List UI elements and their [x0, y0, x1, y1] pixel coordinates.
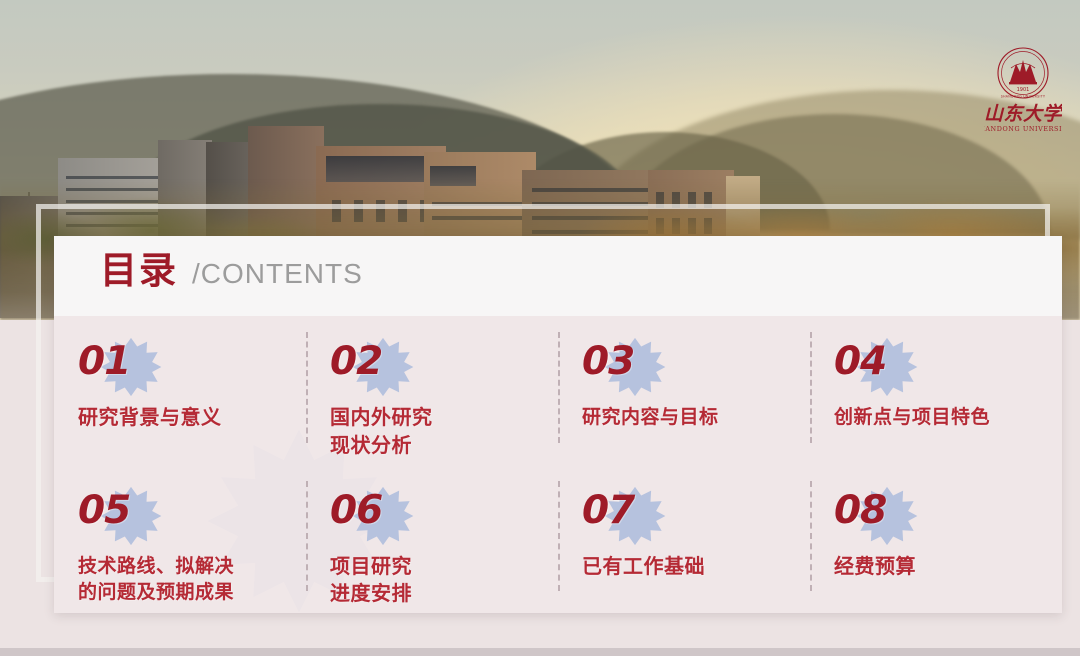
item-number: 01: [78, 342, 130, 381]
contents-body: 01 研究背景与意义 02 国内外研究 现状分析: [54, 316, 1062, 613]
item-label: 经费预算: [834, 553, 1036, 581]
item-label: 已有工作基础: [582, 553, 784, 581]
item-label: 技术路线、拟解决 的问题及预期成果: [78, 553, 280, 605]
svg-text:SHANDONG UNIVERSITY: SHANDONG UNIVERSITY: [984, 125, 1062, 133]
item-label: 研究内容与目标: [582, 404, 784, 430]
contents-item-06[interactable]: 06 项目研究 进度安排: [306, 465, 558, 614]
item-number: 08: [834, 491, 886, 530]
item-number: 06: [330, 491, 382, 530]
item-number-wrap: 08: [834, 487, 1036, 549]
item-number-wrap: 04: [834, 338, 1036, 400]
title-chinese: 目录: [100, 252, 178, 289]
item-label: 国内外研究 现状分析: [330, 404, 532, 459]
page-title: 目录 /CONTENTS: [100, 252, 363, 289]
contents-card-header: 目录 /CONTENTS: [54, 236, 1062, 316]
item-label: 研究背景与意义: [78, 404, 280, 432]
item-number: 05: [78, 491, 130, 530]
item-number-wrap: 07: [582, 487, 784, 549]
contents-item-02[interactable]: 02 国内外研究 现状分析: [306, 316, 558, 465]
item-label: 创新点与项目特色: [834, 404, 1036, 430]
item-label: 项目研究 进度安排: [330, 553, 532, 608]
logo-calligraphy-cn: 山东大学: [984, 103, 1062, 125]
item-number-wrap: 01: [78, 338, 280, 400]
svg-text:1901: 1901: [1017, 87, 1030, 93]
svg-text:SHANDONG UNIVERSITY: SHANDONG UNIVERSITY: [1001, 95, 1045, 99]
item-number-wrap: 02: [330, 338, 532, 400]
contents-grid: 01 研究背景与意义 02 国内外研究 现状分析: [54, 316, 1062, 613]
item-number: 04: [834, 342, 886, 381]
shandong-university-logo: 1901 SHANDONG UNIVERSITY 山东大学 SHANDONG U…: [984, 44, 1062, 136]
contents-item-08[interactable]: 08 经费预算: [810, 465, 1062, 614]
item-number-wrap: 05: [78, 487, 280, 549]
presentation-slide: 1901 SHANDONG UNIVERSITY 山东大学 SHANDONG U…: [0, 0, 1080, 656]
item-number-wrap: 03: [582, 338, 784, 400]
item-number: 03: [582, 342, 634, 381]
contents-item-07[interactable]: 07 已有工作基础: [558, 465, 810, 614]
contents-card: 目录 /CONTENTS: [54, 236, 1062, 613]
slide-bottom-strip: [0, 648, 1080, 656]
contents-item-04[interactable]: 04 创新点与项目特色: [810, 316, 1062, 465]
svg-text:山东大学: 山东大学: [984, 103, 1062, 125]
item-number-wrap: 06: [330, 487, 532, 549]
item-number: 07: [582, 491, 634, 530]
logo-wordmark-en: SHANDONG UNIVERSITY: [984, 125, 1062, 133]
item-number: 02: [330, 342, 382, 381]
contents-item-01[interactable]: 01 研究背景与意义: [54, 316, 306, 465]
emblem-circle-icon: 1901 SHANDONG UNIVERSITY: [998, 48, 1048, 99]
contents-item-05[interactable]: 05 技术路线、拟解决 的问题及预期成果: [54, 465, 306, 614]
contents-item-03[interactable]: 03 研究内容与目标: [558, 316, 810, 465]
title-english: /CONTENTS: [192, 260, 363, 288]
